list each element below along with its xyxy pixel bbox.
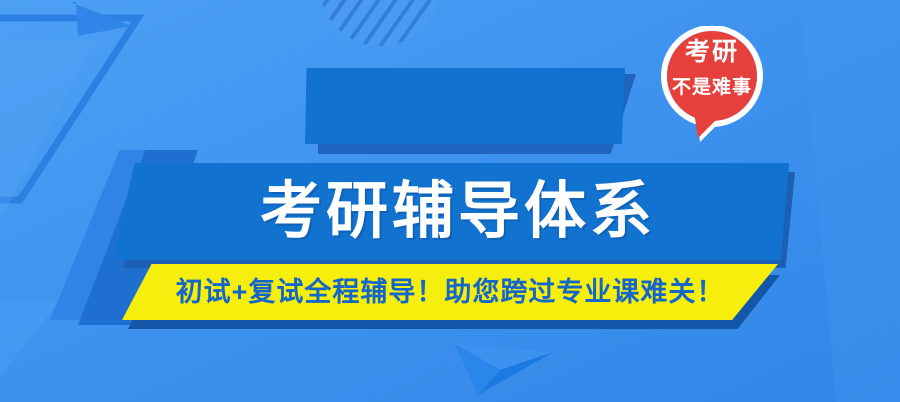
headline-text: 考研辅导体系: [113, 163, 789, 260]
speech-bubble-icon: [660, 26, 764, 146]
speech-bubble-badge: 考研 不是难事: [660, 26, 764, 146]
sub-banner-text: 初试+复试全程辅导！助您跨过专业课难关！: [122, 264, 778, 320]
upper-plate: [305, 68, 625, 144]
promo-banner: 考研辅导体系 初试+复试全程辅导！助您跨过专业课难关！ 考研 不是难事: [0, 0, 900, 402]
